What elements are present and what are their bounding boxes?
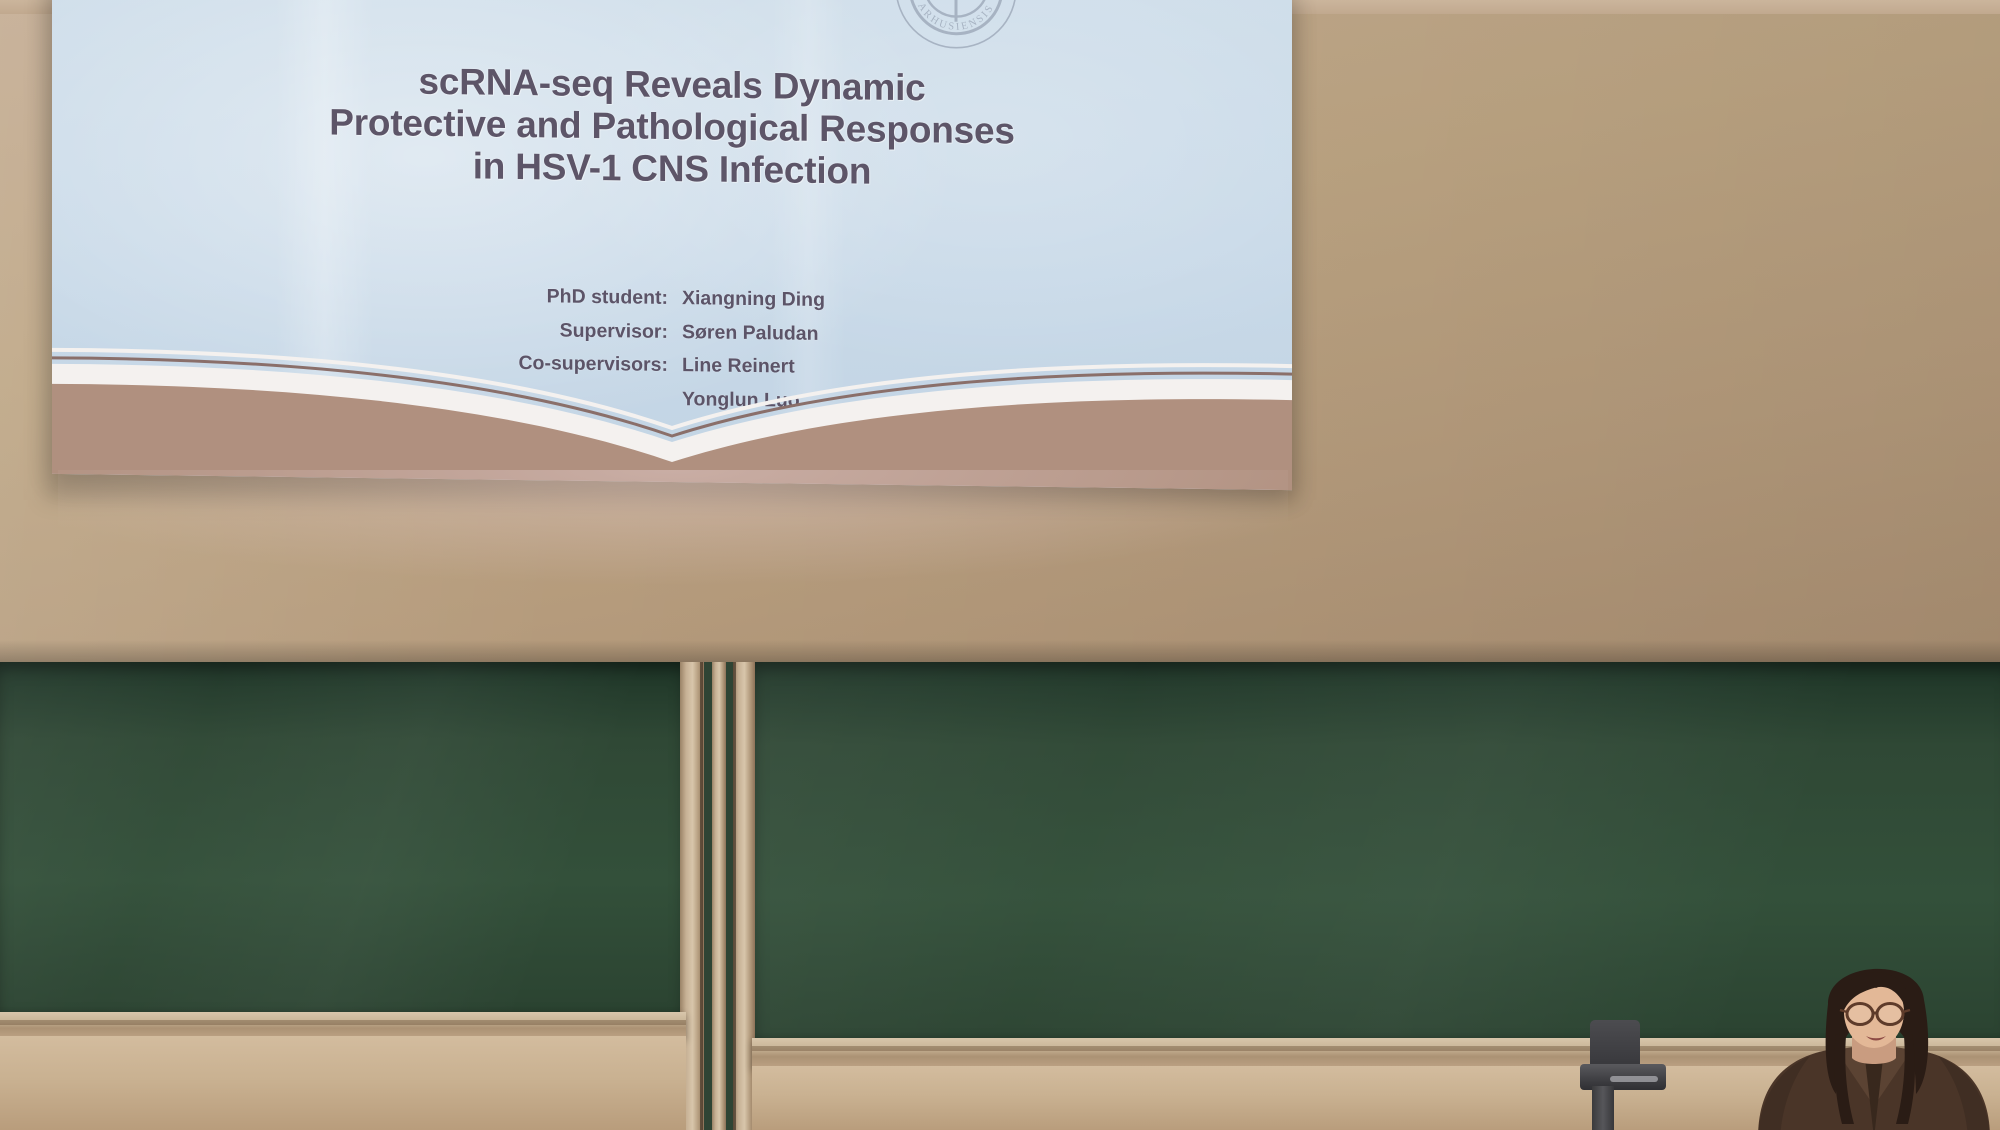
credit-row: PhD student: Xiangning Ding bbox=[482, 280, 862, 319]
presenter-standing bbox=[1740, 938, 2000, 1130]
chalk-ledge-left bbox=[0, 1012, 686, 1038]
credit-role: PhD student: bbox=[482, 280, 682, 316]
open-book-graphic-icon bbox=[52, 328, 1292, 490]
projection-screen: AARHUS UNIVERSITY 15. JANUARY 2026 | PH.… bbox=[52, 0, 1292, 490]
aarhus-university-seal-icon: UNIVERSITAS ARHUSIENSIS bbox=[892, 0, 1020, 53]
slide-title: scRNA-seq Reveals Dynamic Protective and… bbox=[52, 56, 1292, 199]
board-frame-rail bbox=[712, 662, 726, 1130]
blackboard-sheen bbox=[0, 662, 686, 1014]
lecture-hall-photo: AARHUS UNIVERSITY 15. JANUARY 2026 | PH.… bbox=[0, 0, 2000, 1130]
credit-name: Xiangning Ding bbox=[682, 282, 825, 317]
blackboard-left bbox=[0, 662, 686, 1014]
wall-panel-left bbox=[0, 1036, 686, 1130]
microphone-lectern-icon bbox=[1590, 1020, 1640, 1070]
slide-header: AARHUS UNIVERSITY 15. JANUARY 2026 | PH.… bbox=[52, 0, 1292, 20]
lectern-post bbox=[1592, 1086, 1614, 1130]
blackboard-zone bbox=[0, 662, 2000, 1130]
slide: AARHUS UNIVERSITY 15. JANUARY 2026 | PH.… bbox=[52, 0, 1292, 490]
